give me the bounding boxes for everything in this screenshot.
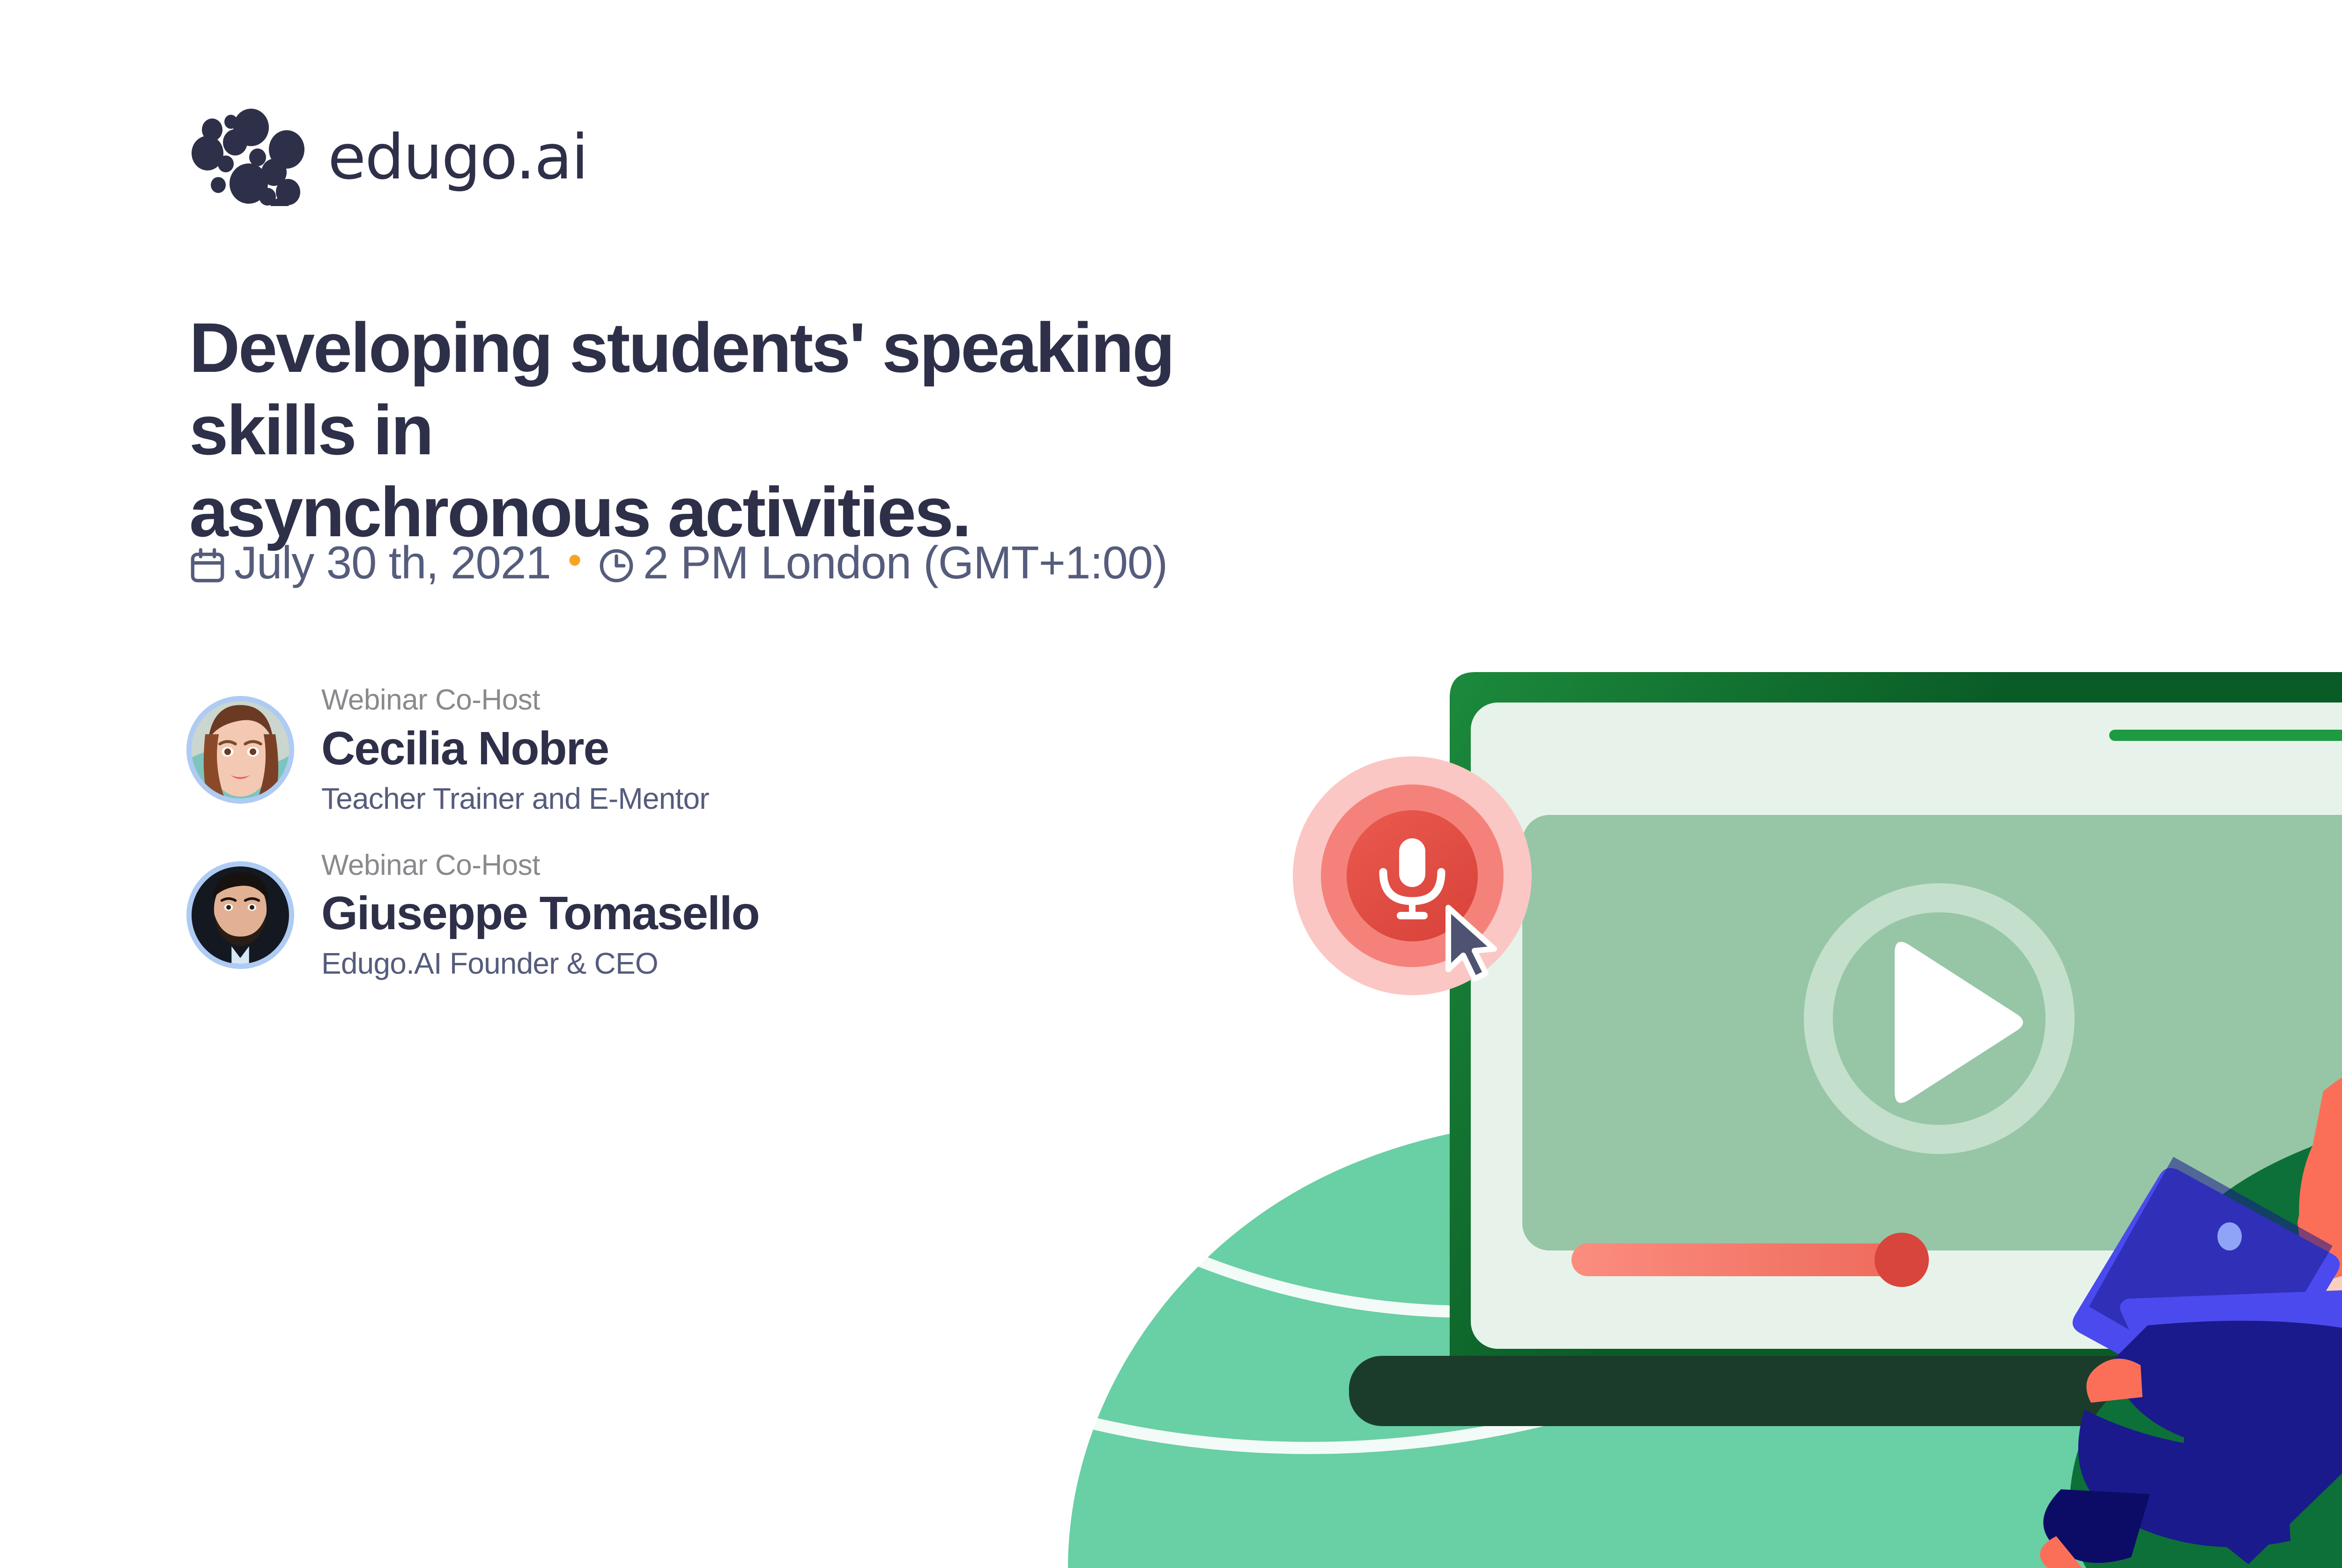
dot-cluster-icon: [186, 109, 312, 206]
page-title: Developing students' speaking skills in …: [189, 307, 1323, 554]
speaker-text: Webinar Co-Host Cecilia Nobre Teacher Tr…: [321, 682, 709, 818]
brand-logo[interactable]: edugo.ai: [186, 109, 587, 206]
speaker-card: Webinar Co-Host Cecilia Nobre Teacher Tr…: [186, 682, 759, 818]
avatar-cecilia-nobre: [192, 701, 289, 799]
avatar-giuseppe-tomasello: [192, 866, 289, 964]
speaker-role: Webinar Co-Host: [321, 682, 709, 718]
speakers-list: Webinar Co-Host Cecilia Nobre Teacher Tr…: [186, 682, 759, 983]
event-time: 2 PM London (GMT+1:00): [643, 536, 1167, 589]
brand-logo-text: edugo.ai: [328, 126, 587, 188]
meta-separator: •: [568, 540, 581, 580]
avatar: [186, 696, 294, 804]
speaker-title: Teacher Trainer and E-Mentor: [321, 779, 709, 818]
avatar: [186, 861, 294, 969]
speaker-name: Cecilia Nobre: [321, 720, 709, 777]
event-date: July 30 th, 2021: [234, 536, 551, 589]
speaker-name: Giuseppe Tomasello: [321, 885, 759, 941]
title-line-1: Developing students' speaking skills in: [189, 308, 1173, 469]
calendar-icon: [189, 547, 226, 584]
clock-icon: [598, 547, 635, 584]
speaker-role: Webinar Co-Host: [321, 847, 759, 884]
content-column: edugo.ai Developing students' speaking s…: [0, 0, 1358, 1568]
event-meta: July 30 th, 2021 • 2 PM London (GMT+1:00…: [189, 536, 1167, 589]
speaker-text: Webinar Co-Host Giuseppe Tomasello Edugo…: [321, 847, 759, 984]
speaker-title: Edugo.AI Founder & CEO: [321, 944, 759, 983]
speaker-card: Webinar Co-Host Giuseppe Tomasello Edugo…: [186, 847, 759, 984]
